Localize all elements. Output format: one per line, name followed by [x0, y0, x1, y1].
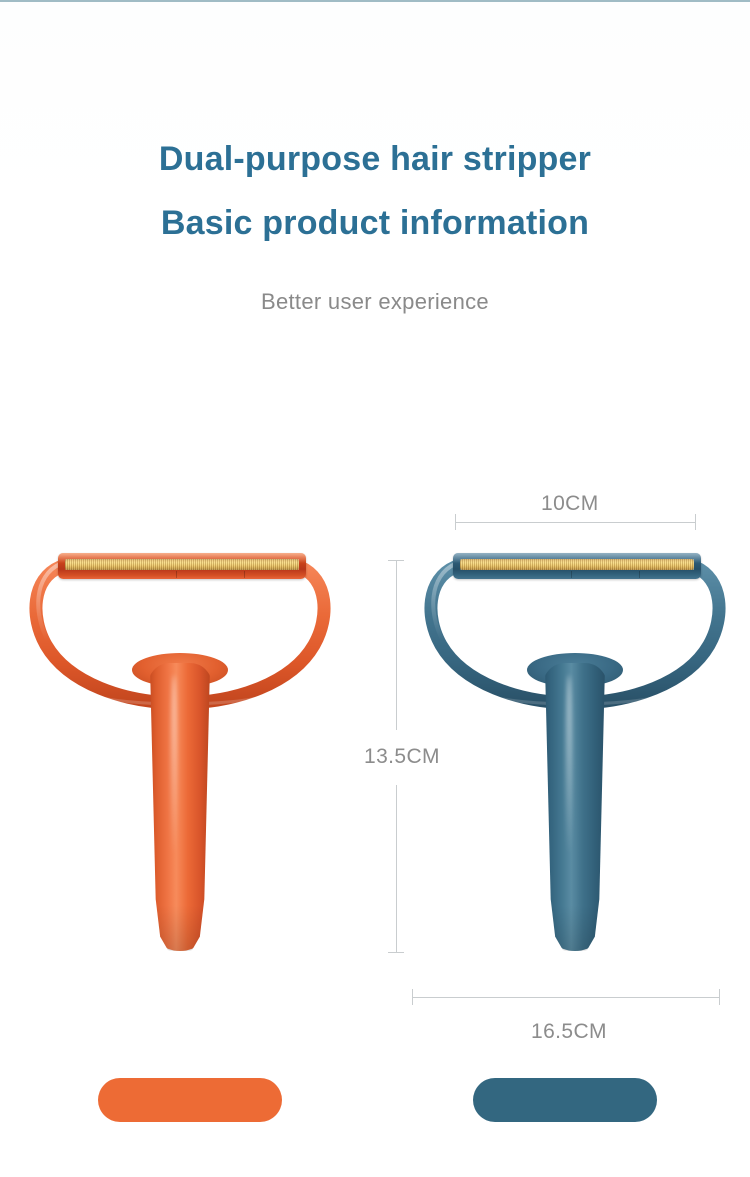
product-stage: 10CM 13.5CM 16.5CM: [0, 0, 750, 1177]
orange-color-swatch[interactable]: [98, 1078, 282, 1122]
orange-blade-gloss: [58, 553, 306, 563]
blue-color-swatch[interactable]: [473, 1078, 657, 1122]
orange-handle-highlight: [171, 675, 177, 854]
dimension-line-height-lower: [396, 785, 397, 952]
dimension-label-width-top: 10CM: [541, 492, 599, 516]
orange-blade-seam: [176, 571, 177, 578]
dimension-cap-left-bottom: [412, 989, 413, 1005]
dimension-label-height: 13.5CM: [364, 745, 440, 769]
blue-blade-housing: [453, 553, 701, 579]
blue-handle-highlight: [566, 675, 572, 854]
blue-blade-seam: [571, 571, 572, 578]
orange-handle: [148, 663, 212, 951]
blue-handle-cap: [548, 905, 602, 951]
dimension-cap-right-bottom: [719, 989, 720, 1005]
dimension-line-height-upper: [396, 560, 397, 730]
dimension-cap-top-height: [388, 560, 404, 561]
blue-hair-stripper: [415, 545, 735, 965]
orange-blade-seam: [244, 571, 245, 578]
dimension-cap-right-top: [695, 514, 696, 530]
orange-handle-body: [148, 663, 212, 951]
dimension-cap-bottom-height: [388, 952, 404, 953]
blue-handle: [543, 663, 607, 951]
blue-handle-body: [543, 663, 607, 951]
dimension-line-width-bottom: [412, 997, 719, 998]
product-info-page: Dual-purpose hair stripper Basic product…: [0, 0, 750, 1177]
dimension-line-width-top: [455, 522, 695, 523]
blue-blade-seam: [639, 571, 640, 578]
dimension-cap-left-top: [455, 514, 456, 530]
orange-hair-stripper: [20, 545, 340, 965]
blue-blade-gloss: [453, 553, 701, 563]
dimension-label-width-bottom: 16.5CM: [531, 1020, 607, 1044]
orange-blade-housing: [58, 553, 306, 579]
orange-handle-cap: [153, 905, 207, 951]
